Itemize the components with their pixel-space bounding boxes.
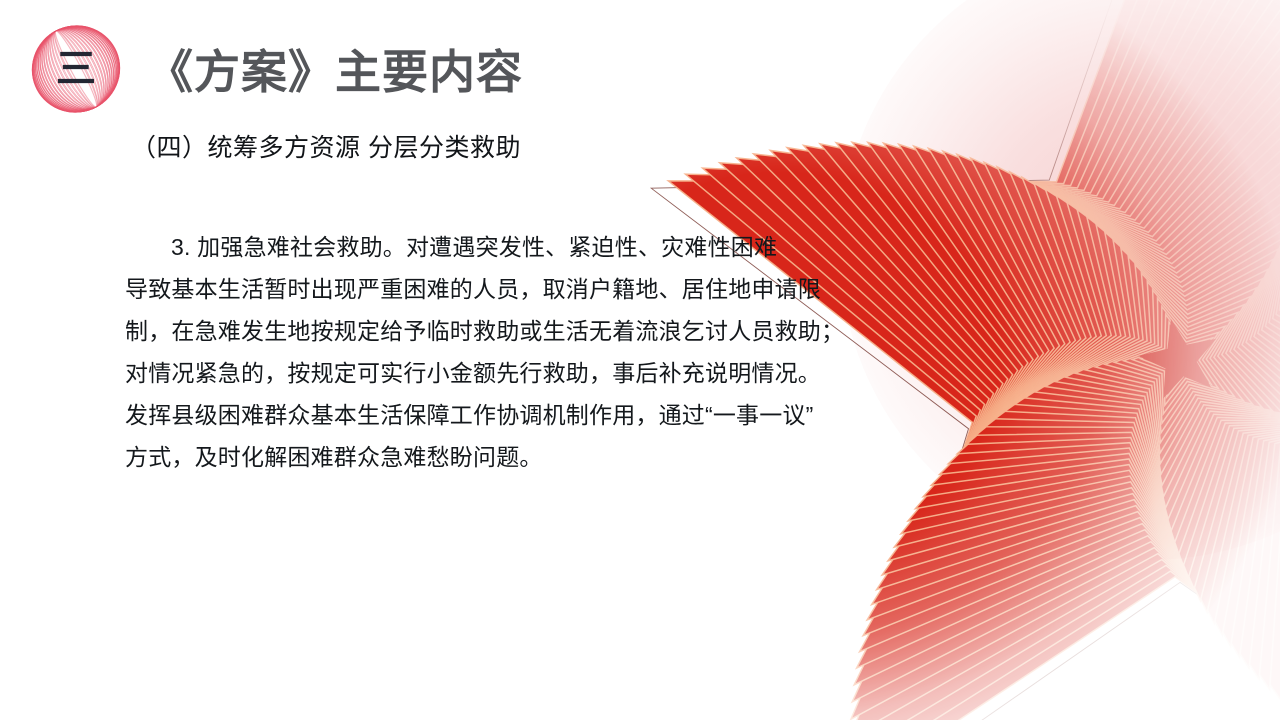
section-subtitle: （四）统筹多方资源 分层分类救助	[131, 128, 521, 164]
body-line: 发挥县级困难群众基本生活保障工作协调机制作用，通过“一事一议”	[125, 394, 877, 436]
body-paragraph: 3. 加强急难社会救助。对遭遇突发性、紧迫性、灾难性困难 导致基本生活暂时出现严…	[125, 226, 877, 478]
section-number-glyph: 三	[29, 22, 123, 116]
slide-header: 三 《方案》主要内容	[0, 0, 1280, 120]
body-line: 导致基本生活暂时出现严重困难的人员，取消户籍地、居住地申请限	[125, 268, 877, 310]
body-line: 方式，及时化解困难群众急难愁盼问题。	[125, 436, 877, 478]
body-line: 对情况紧急的，按规定可实行小金额先行救助，事后补充说明情况。	[125, 352, 877, 394]
body-line: 制，在急难发生地按规定给予临时救助或生活无着流浪乞讨人员救助；	[125, 310, 877, 352]
section-number-badge-icon: 三	[29, 22, 123, 116]
page-title: 《方案》主要内容	[147, 36, 523, 102]
body-line: 3. 加强急难社会救助。对遭遇突发性、紧迫性、灾难性困难	[125, 226, 877, 268]
slide-canvas: 三 《方案》主要内容 （四）统筹多方资源 分层分类救助 3. 加强急难社会救助。…	[0, 0, 1280, 720]
